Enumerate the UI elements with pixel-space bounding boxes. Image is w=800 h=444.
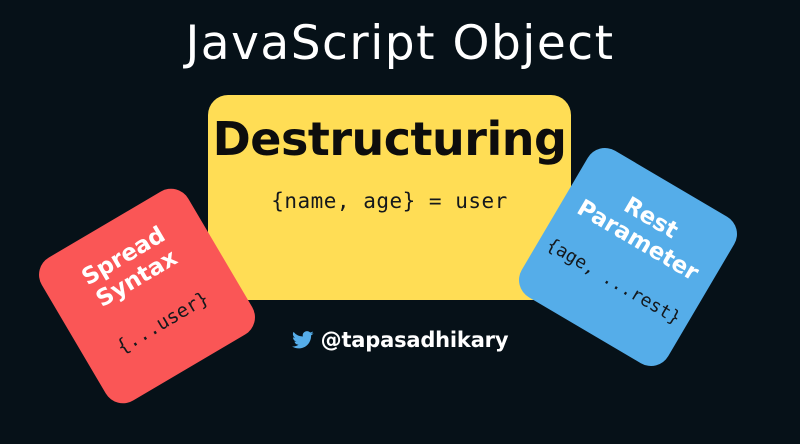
credit-line: @tapasadhikary	[0, 328, 800, 352]
twitter-bird-icon	[292, 329, 314, 351]
poster-canvas: JavaScript Object Destructuring {name, a…	[0, 0, 800, 444]
destructuring-card-title: Destructuring	[213, 115, 567, 163]
twitter-handle-label: @tapasadhikary	[321, 328, 509, 352]
destructuring-card-code: {name, age} = user	[271, 189, 508, 213]
page-title: JavaScript Object	[0, 16, 800, 71]
spread-syntax-card-title: Spread Syntax	[78, 223, 183, 314]
destructuring-card: Destructuring {name, age} = user	[208, 95, 571, 300]
